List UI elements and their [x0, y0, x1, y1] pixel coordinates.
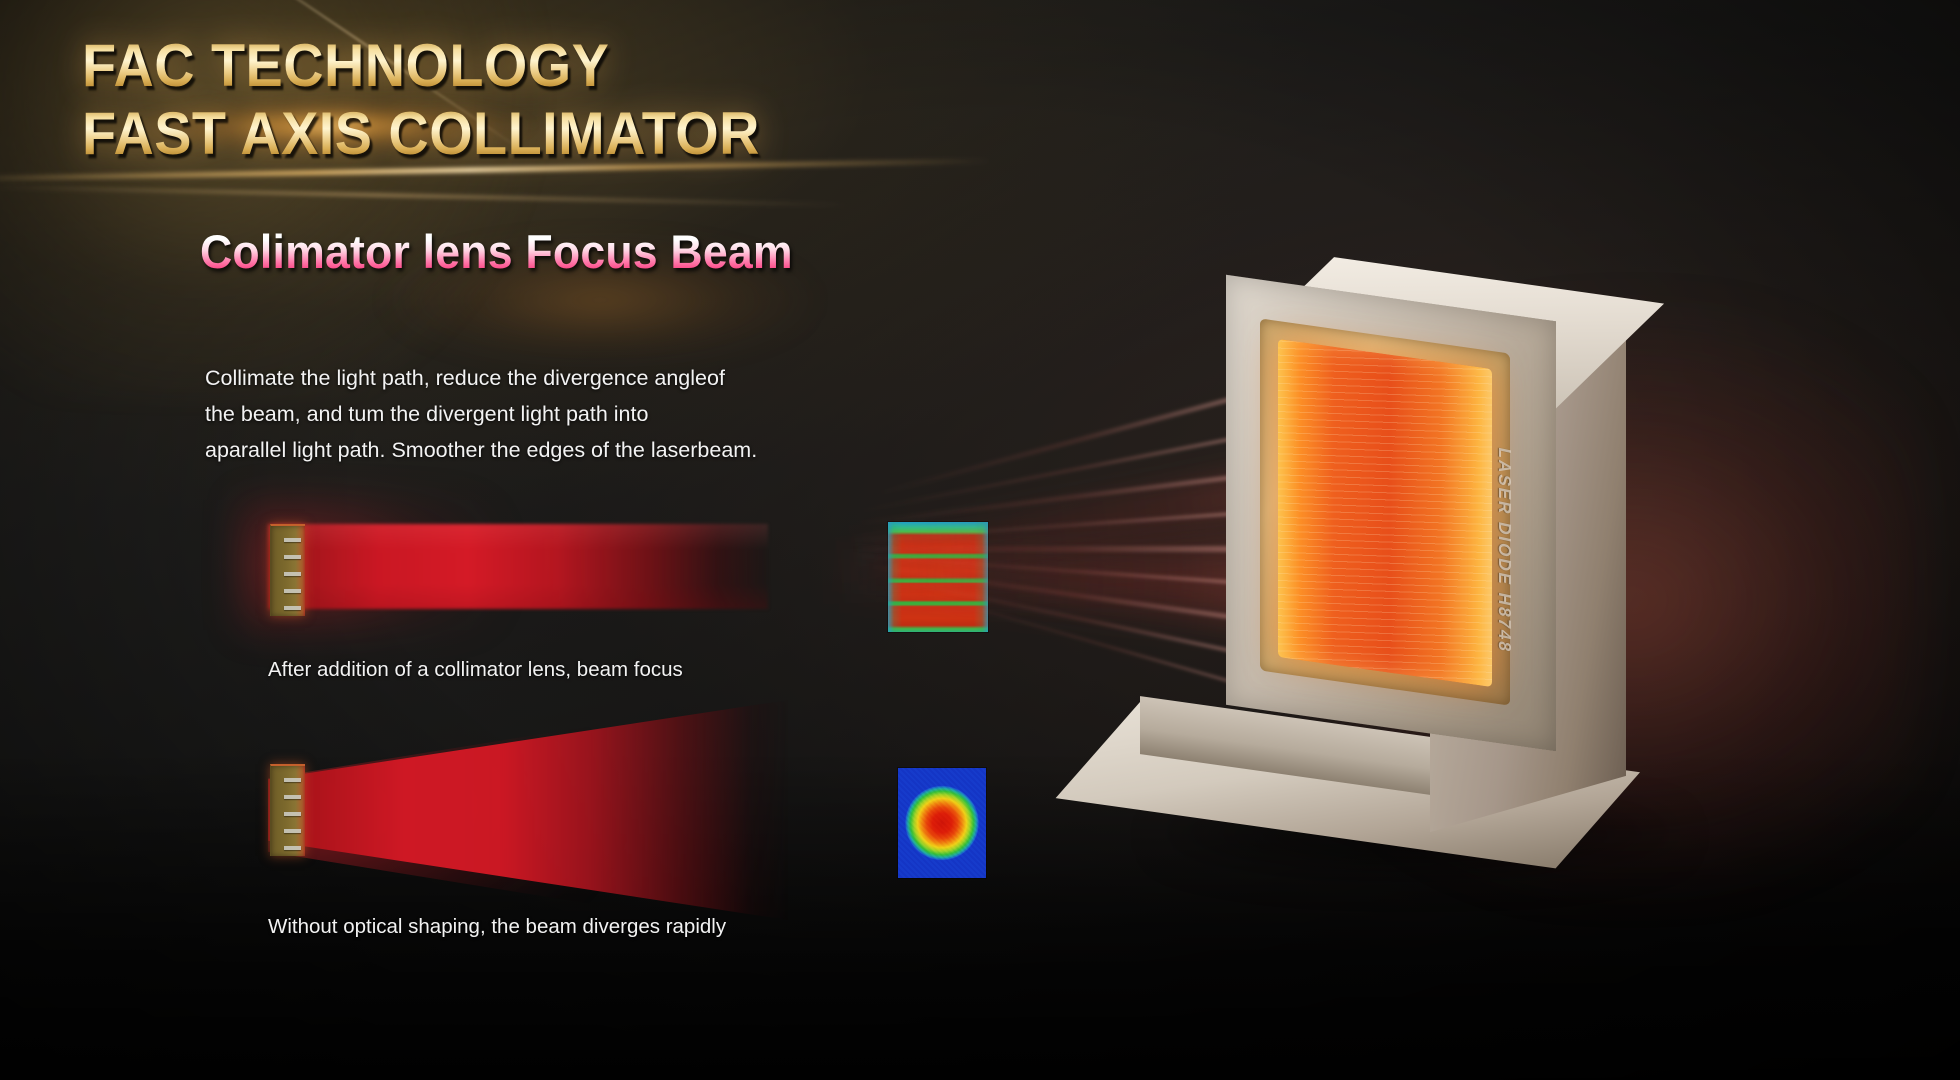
product-engraving-text: LASER DIODE H8748	[1494, 446, 1514, 655]
headline-block: FAC TECHNOLOGY FAST AXIS COLLIMATOR	[82, 32, 982, 168]
emitter-tick	[284, 846, 301, 850]
emitter-block-collimated	[270, 524, 305, 616]
body-line-2: the beam, and tum the divergent light pa…	[205, 396, 985, 432]
emitter-tick	[284, 555, 301, 559]
emitter-tick	[284, 572, 301, 576]
body-line-3: aparallel light path. Smoother the edges…	[205, 432, 985, 468]
beam-profile-divergent	[898, 768, 986, 878]
emitter-tick	[284, 829, 301, 833]
caption-collimated: After addition of a collimator lens, bea…	[268, 656, 683, 684]
banner-canvas: FAC TECHNOLOGY FAST AXIS COLLIMATOR Coli…	[0, 0, 1960, 1080]
body-line-1: Collimate the light path, reduce the div…	[205, 360, 985, 396]
emitter-block-divergent	[270, 764, 305, 856]
caption-divergent: Without optical shaping, the beam diverg…	[268, 913, 726, 941]
headline-line-1: FAC TECHNOLOGY	[82, 32, 919, 100]
emitter-tick	[284, 812, 301, 816]
diagram-divergent: Without optical shaping, the beam diverg…	[0, 0, 88, 110]
subheading: Colimator lens Focus Beam	[200, 224, 793, 280]
headline-line-2: FAST AXIS COLLIMATOR	[82, 100, 919, 168]
emitter-tick	[284, 795, 301, 799]
product-glowing-aperture	[1278, 339, 1492, 687]
body-paragraph: Collimate the light path, reduce the div…	[205, 360, 985, 468]
product-image: LASER DIODE H8748	[1100, 250, 1920, 950]
emitter-tick	[284, 589, 301, 593]
collimated-beam	[268, 524, 768, 609]
emitter-tick	[284, 538, 301, 542]
emitter-tick	[284, 778, 301, 782]
beam-profile-collimated	[888, 522, 988, 632]
emitter-tick	[284, 606, 301, 610]
